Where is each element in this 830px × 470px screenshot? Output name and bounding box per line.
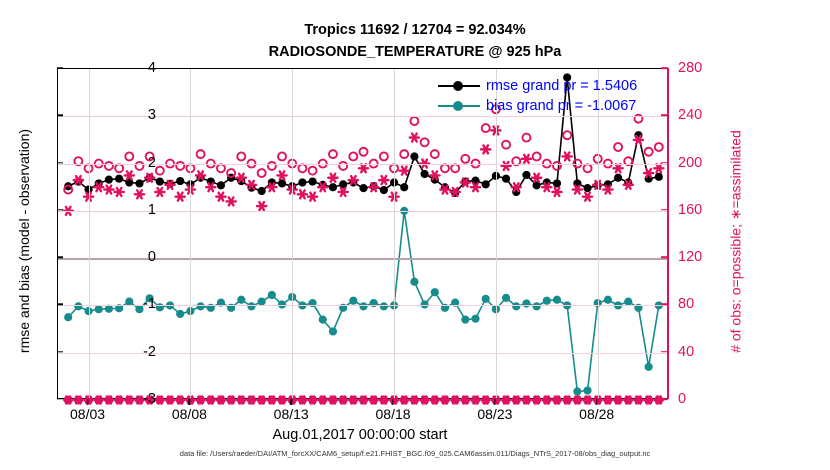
y-tick-mark-right (661, 209, 668, 211)
legend-marker-rmse (453, 81, 463, 91)
obs-possible-marker (258, 169, 266, 177)
obs-assimilated-marker (379, 176, 388, 184)
data-point (258, 187, 266, 195)
y-tick-mark-left (57, 398, 63, 399)
y-tick-mark-right (661, 162, 668, 164)
legend-marker-bias (453, 101, 463, 111)
y-tick-mark-left (57, 162, 63, 163)
data-point (380, 186, 388, 194)
obs-assimilated-marker (563, 152, 572, 160)
data-point (359, 184, 367, 192)
obs-assimilated-marker (176, 193, 185, 201)
obs-possible-marker (482, 124, 490, 132)
y-tick-label-right: 280 (678, 60, 724, 76)
obs-possible-marker (655, 143, 663, 151)
page-title-line1: Tropics 11692 / 12704 = 92.034% (0, 22, 830, 38)
obs-possible-marker (349, 152, 357, 160)
y-tick-label-left: -3 (116, 391, 156, 407)
gridline-v (394, 69, 395, 398)
x-tick-mark (87, 399, 88, 405)
y-axis-label-right: # of obs: o=possible; ∗=assimilated (728, 72, 745, 412)
y-tick-mark-right (661, 398, 668, 400)
x-tick-label: 08/03 (70, 406, 105, 422)
data-point (461, 316, 469, 324)
data-point (217, 181, 225, 189)
obs-possible-marker (156, 167, 164, 175)
y-tick-label-left: -1 (116, 296, 156, 312)
data-point (553, 179, 561, 187)
obs-assimilated-marker (481, 145, 490, 153)
data-point (298, 178, 306, 186)
y-tick-mark-left (57, 351, 63, 352)
y-tick-mark-right (661, 351, 668, 353)
gridline-v (190, 69, 191, 398)
obs-assimilated-marker (135, 190, 144, 198)
data-point (105, 176, 113, 184)
gridline-v (496, 69, 497, 398)
data-point (237, 296, 245, 304)
x-tick-label: 08/28 (579, 406, 614, 422)
y-tick-label-left: 1 (116, 202, 156, 218)
obs-assimilated-marker (654, 164, 663, 172)
y-axis-label-left: rmse and bias (model - observation) (16, 71, 32, 411)
data-point (156, 177, 164, 185)
y-tick-label-right: 0 (678, 391, 724, 407)
obs-possible-marker (533, 152, 541, 160)
data-point (573, 387, 581, 395)
data-point (583, 386, 591, 394)
obs-assimilated-marker (339, 188, 348, 196)
data-point (482, 180, 490, 188)
x-tick-mark (189, 399, 190, 405)
x-tick-mark (392, 399, 393, 405)
data-point (543, 297, 551, 305)
obs-possible-marker (645, 148, 653, 156)
x-tick-label: 08/18 (376, 406, 411, 422)
x-axis-label: Aug.01,2017 00:00:00 start (0, 427, 720, 443)
obs-possible-marker (278, 152, 286, 160)
data-point (64, 313, 72, 321)
data-point (115, 175, 123, 183)
obs-assimilated-marker (328, 174, 337, 182)
data-point (278, 179, 286, 187)
obs-assimilated-marker (583, 193, 592, 201)
obs-possible-marker (563, 131, 571, 139)
data-point (583, 184, 591, 192)
x-tick-label: 08/13 (274, 406, 309, 422)
obs-assimilated-marker (410, 134, 419, 142)
data-point (410, 278, 418, 286)
data-point (135, 179, 143, 187)
obs-assimilated-marker (115, 188, 124, 196)
y-tick-mark-left (57, 209, 63, 210)
obs-possible-marker (431, 150, 439, 158)
y-tick-mark-left (57, 304, 63, 305)
gridline-v (292, 69, 293, 398)
data-point (176, 177, 184, 185)
obs-possible-marker (400, 150, 408, 158)
y-tick-label-right: 80 (678, 296, 724, 312)
y-tick-mark-left (57, 115, 63, 116)
y-tick-label-left: 2 (116, 155, 156, 171)
data-point (502, 294, 510, 302)
y-tick-label-right: 160 (678, 202, 724, 218)
data-point (410, 152, 418, 160)
obs-assimilated-marker (613, 164, 622, 172)
obs-assimilated-marker (532, 174, 541, 182)
obs-possible-marker (360, 148, 368, 156)
data-point (614, 174, 622, 182)
y-tick-label-right: 200 (678, 155, 724, 171)
obs-assimilated-marker (400, 167, 409, 175)
data-point (502, 175, 510, 183)
data-point (329, 183, 337, 191)
right-axis-line (667, 68, 669, 399)
obs-possible-marker (237, 152, 245, 160)
x-tick-label: 08/23 (477, 406, 512, 422)
obs-possible-marker (461, 155, 469, 163)
obs-assimilated-marker (104, 186, 113, 194)
legend: rmse grand pr = 1.5406 bias grand pr = -… (434, 76, 674, 117)
gridline-v (89, 69, 90, 398)
obs-assimilated-marker (216, 193, 225, 201)
data-point (319, 316, 327, 324)
y-tick-mark-right (661, 304, 668, 306)
series-line (68, 211, 659, 392)
obs-possible-marker (584, 164, 592, 172)
obs-assimilated-marker (227, 197, 236, 205)
y-tick-label-right: 120 (678, 249, 724, 265)
y-tick-mark-right (661, 256, 668, 258)
y-tick-label-right: 40 (678, 344, 724, 360)
obs-assimilated-marker (277, 171, 286, 179)
obs-possible-marker (380, 152, 388, 160)
obs-assimilated-marker (359, 164, 368, 172)
page-title-line2: RADIOSONDE_TEMPERATURE @ 925 hPa (0, 44, 830, 60)
data-point (482, 295, 490, 303)
data-point (471, 315, 479, 323)
legend-label-rmse: rmse grand pr = 1.5406 (486, 76, 637, 96)
y-tick-label-left: 0 (116, 249, 156, 265)
data-point (329, 327, 337, 335)
data-point (553, 296, 561, 304)
obs-assimilated-marker (308, 193, 317, 201)
y-tick-label-left: 4 (116, 60, 156, 76)
obs-possible-marker (217, 164, 225, 172)
data-point (308, 177, 316, 185)
data-point (400, 183, 408, 191)
y-tick-mark-left (57, 256, 63, 257)
obs-possible-marker (522, 134, 530, 142)
plot-page: Tropics 11692 / 12704 = 92.034% RADIOSON… (0, 0, 830, 470)
y-tick-label-left: 3 (116, 107, 156, 123)
obs-possible-marker (410, 117, 418, 125)
x-tick-mark (596, 399, 597, 405)
obs-possible-marker (441, 164, 449, 172)
data-file-caption: data file: /Users/raeder/DAI/ATM_forcXX/… (0, 449, 830, 458)
data-point (604, 296, 612, 304)
data-point (268, 291, 276, 299)
data-point (421, 170, 429, 178)
obs-possible-marker (309, 167, 317, 175)
obs-assimilated-marker (522, 155, 531, 163)
x-tick-label: 08/08 (172, 406, 207, 422)
obs-assimilated-marker (125, 171, 134, 179)
obs-possible-marker (197, 150, 205, 158)
legend-label-bias: bias grand pr = -1.0067 (486, 96, 636, 116)
obs-possible-marker (502, 141, 510, 149)
y-tick-label-left: -2 (116, 344, 156, 360)
x-tick-mark (494, 399, 495, 405)
y-tick-label-right: 240 (678, 107, 724, 123)
y-tick-mark-left (57, 67, 63, 68)
obs-possible-marker (421, 138, 429, 146)
data-point (645, 363, 653, 371)
data-point (176, 310, 184, 318)
y-tick-mark-right (661, 67, 668, 69)
data-point (431, 288, 439, 296)
obs-assimilated-marker (155, 188, 164, 196)
obs-assimilated-marker (552, 188, 561, 196)
x-tick-mark (291, 399, 292, 405)
obs-assimilated-marker (298, 190, 307, 198)
obs-possible-marker (451, 164, 459, 172)
obs-assimilated-marker (257, 202, 266, 210)
obs-possible-marker (329, 150, 337, 158)
data-point (655, 173, 663, 181)
obs-possible-marker (614, 143, 622, 151)
gridline-v (598, 69, 599, 398)
data-point (349, 297, 357, 305)
obs-possible-marker (298, 164, 306, 172)
data-point (522, 171, 530, 179)
